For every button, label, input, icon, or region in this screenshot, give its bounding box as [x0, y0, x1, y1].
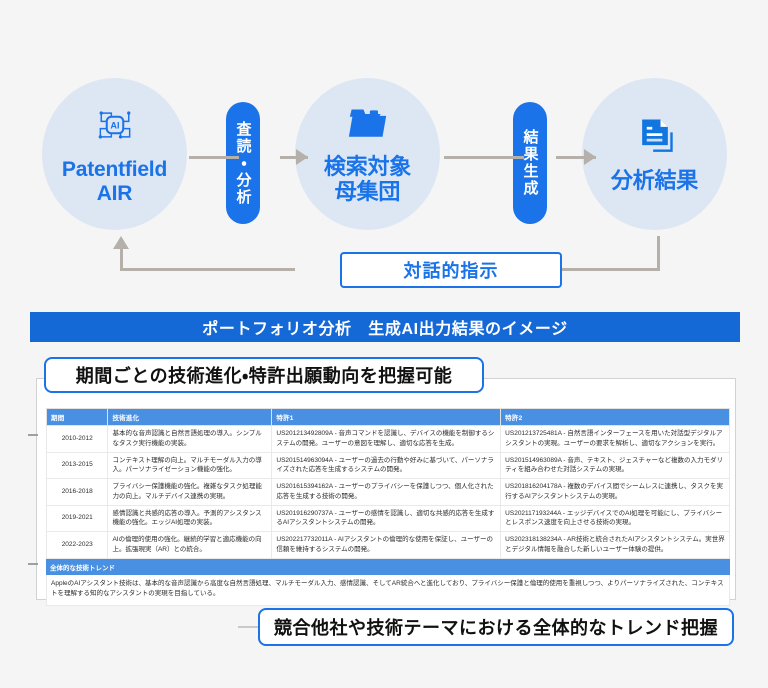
process-flow-diagram: AI Patentfield AIR 査読・分析: [0, 0, 768, 300]
cell-period: 2016-2018: [47, 479, 108, 506]
cell-patent2: US202318138234A - AR技術と統合されたAIアシスタントシステム…: [501, 532, 730, 559]
panel-title-bar: ポートフォリオ分析 生成AI出力結果のイメージ: [30, 312, 740, 342]
trend-section-body: AppleのAIアシスタント技術は、基本的な音声認識から高度な自然言語処理、マル…: [46, 575, 730, 607]
flow-node-analysis-result[interactable]: 分析結果: [582, 78, 727, 230]
callout-bottom-text: 競合他社や技術テーマにおける全体的なトレンド把握: [274, 614, 718, 640]
feedback-arrowhead-icon: [113, 236, 129, 249]
cell-evolution: 感情認識と共感的応答の導入。予測的アシスタンス機能の強化。エッジAI処理の実装。: [108, 505, 272, 532]
feedback-dialog-label: 対話的指示: [404, 257, 499, 283]
cell-patent1: US201615394162A - ユーザーのプライバシーを保護しつつ、個人化さ…: [272, 479, 501, 506]
cell-period: 2022-2023: [47, 532, 108, 559]
feedback-riser-left: [120, 248, 123, 270]
feedback-line-left: [120, 268, 295, 271]
table-row: 2019-2021 感情認識と共感的応答の導入。予測的アシスタンス機能の強化。エ…: [47, 505, 730, 532]
connector-corpus-to-generate: [444, 156, 524, 159]
table-row: 2010-2012 基本的な音声認識と自然言語処理の導入。シンプルなタスク実行機…: [47, 426, 730, 453]
callout-top-text: 期間ごとの技術進化・特許出願動向を把握可能: [76, 362, 452, 388]
callout-bottom-leader-line: [238, 626, 260, 628]
trend-section-header: 全体的な技術トレンド: [46, 559, 730, 575]
flow-pill-result-generation[interactable]: 結果生成: [513, 102, 547, 224]
callout-period-trend[interactable]: 期間ごとの技術進化・特許出願動向を把握可能: [44, 357, 484, 393]
column-header-evolution: 技術進化: [108, 409, 272, 426]
feedback-riser-right: [657, 236, 660, 271]
cell-patent1: US201514963094A - ユーザーの過去の行動や好みに基づいて、パーソ…: [272, 452, 501, 479]
folder-icon: [346, 104, 390, 149]
cell-patent1: US201213492809A - 音声コマンドを認識し、デバイスの機能を制御す…: [272, 426, 501, 453]
evolution-table: 期間 技術進化 特許1 特許2 2010-2012 基本的な音声認識と自然言語処…: [46, 408, 730, 559]
column-header-period: 期間: [47, 409, 108, 426]
table-header-row: 期間 技術進化 特許1 特許2: [47, 409, 730, 426]
ai-chip-icon: AI: [93, 103, 137, 152]
flow-pill-label: 査読・分析: [236, 121, 251, 206]
cell-evolution: プライバシー保護機能の強化。複雑なタスク処理能力の向上。マルチデバイス連携の実現…: [108, 479, 272, 506]
column-header-patent1: 特許1: [272, 409, 501, 426]
cell-patent1: US202217732011A - AIアシスタントの倫理的な使用を保証し、ユー…: [272, 532, 501, 559]
panel-title-text: ポートフォリオ分析 生成AI出力結果のイメージ: [202, 315, 567, 339]
table-row: 2013-2015 コンテキスト理解の向上。マルチモーダル入力の導入。パーソナラ…: [47, 452, 730, 479]
cell-period: 2019-2021: [47, 505, 108, 532]
cell-patent1: US201916290737A - ユーザーの感情を認識し、適切な共感的応答を生…: [272, 505, 501, 532]
leader-tick-bottom: [28, 563, 38, 565]
connector-air-to-review: [189, 156, 239, 159]
cell-evolution: コンテキスト理解の向上。マルチモーダル入力の導入。パーソナライゼーション機能の強…: [108, 452, 272, 479]
cell-patent2: US201213725481A - 自然言語インターフェースを用いた対話型デジタ…: [501, 426, 730, 453]
callout-overall-trend[interactable]: 競合他社や技術テーマにおける全体的なトレンド把握: [258, 608, 734, 646]
flow-pill-review-analysis[interactable]: 査読・分析: [226, 102, 260, 224]
trend-header-text: 全体的な技術トレンド: [50, 565, 115, 572]
cell-patent2: US201514963089A - 音声、テキスト、ジェスチャーなど複数の入力モ…: [501, 452, 730, 479]
flow-node-search-corpus[interactable]: 検索対象 母集団: [295, 78, 440, 230]
arrowhead-to-corpus: [296, 149, 308, 165]
arrowhead-to-result: [584, 149, 596, 165]
svg-text:AI: AI: [110, 121, 119, 131]
cell-evolution: 基本的な音声認識と自然言語処理の導入。シンプルなタスク実行機能の実装。: [108, 426, 272, 453]
column-header-patent2: 特許2: [501, 409, 730, 426]
table-row: 2016-2018 プライバシー保護機能の強化。複雑なタスク処理能力の向上。マル…: [47, 479, 730, 506]
flow-node-label: Patentfield AIR: [62, 158, 167, 205]
cell-period: 2010-2012: [47, 426, 108, 453]
flow-pill-label: 結果生成: [523, 129, 538, 197]
cell-patent2: US202117193244A - エッジデバイスでのAI処理を可能にし、プライ…: [501, 505, 730, 532]
cell-patent2: US201816204178A - 複数のデバイス間でシームレスに連携し、タスク…: [501, 479, 730, 506]
leader-tick-top: [28, 434, 38, 436]
table-row: 2022-2023 AIの倫理的使用の強化。継続的学習と適応機能の向上。拡張現実…: [47, 532, 730, 559]
cell-period: 2013-2015: [47, 452, 108, 479]
cell-evolution: AIの倫理的使用の強化。継続的学習と適応機能の向上。拡張現実（AR）との統合。: [108, 532, 272, 559]
flow-node-label: 分析結果: [611, 169, 698, 194]
feedback-dialog-label-box[interactable]: 対話的指示: [340, 252, 562, 288]
trend-body-text: AppleのAIアシスタント技術は、基本的な音声認識から高度な自然言語処理、マル…: [51, 580, 724, 597]
document-icon: [633, 114, 677, 163]
feedback-line-right: [560, 268, 660, 271]
flow-node-patentfield-air[interactable]: AI Patentfield AIR: [42, 78, 187, 230]
flow-node-label: 検索対象 母集団: [324, 155, 411, 204]
report-content: 期間 技術進化 特許1 特許2 2010-2012 基本的な音声認識と自然言語処…: [46, 408, 730, 606]
